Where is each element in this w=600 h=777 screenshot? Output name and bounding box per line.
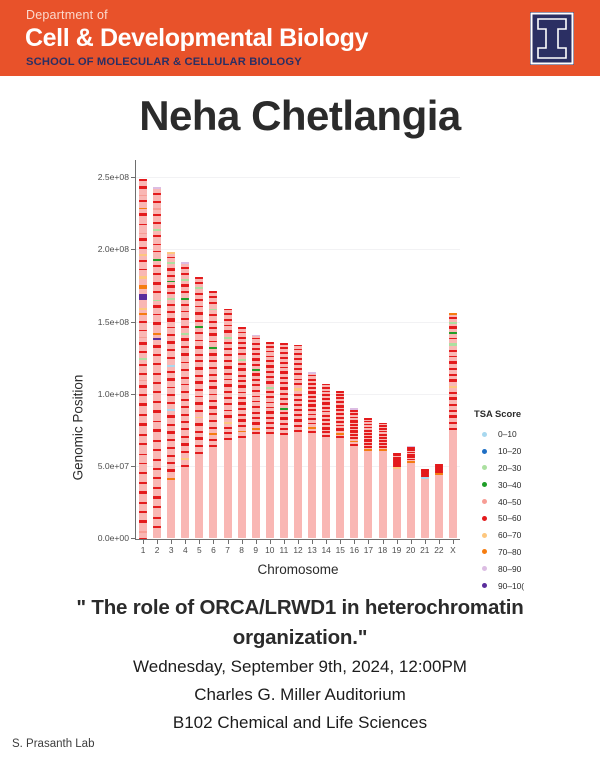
chromosome-segment [153,363,161,366]
chromosome-segment [252,406,260,409]
chromosome-column [266,342,274,538]
chromosome-segment [280,357,288,359]
legend-color-dot-icon [482,449,487,454]
chromosome-segment [294,363,302,365]
chromosome-segment [209,360,217,362]
chromosome-segment [336,428,344,431]
chromosome-segment [238,353,246,356]
chromosome-segment [308,431,316,433]
chromosome-segment [195,326,203,328]
chromosome-segment [139,233,147,234]
chromosome-segment [336,436,344,438]
chromosome-segment [280,347,288,349]
chromosome-segment [364,433,372,435]
chromosome-segment [379,434,387,437]
chromosome-segment [238,380,246,382]
chromosome-segment [153,300,161,301]
chromosome-segment [209,333,217,336]
chromosome-segment [449,326,457,329]
chromosome-segment [364,427,372,429]
chromosome-segment [266,396,274,399]
chromosome-segment [252,343,260,345]
chromosome-segment [449,317,457,319]
chromosome-segment [139,285,147,290]
chromosome-segment [153,265,161,268]
chromosome-segment [252,373,260,376]
chromosome-segment [449,392,457,394]
chromosome-segment [266,432,274,434]
chromosome-segment [195,312,203,315]
event-venue: Charles G. Miller Auditorium [0,681,600,709]
chromosome-column [322,384,330,538]
chromosome-segment [209,367,217,370]
chromosome-segment [238,392,246,394]
chromosome-segment [238,347,246,349]
chromosome-segment [294,349,302,351]
chromosome-segment [407,449,415,451]
chromosome-segment [167,431,175,434]
chromosome-segment [153,468,161,470]
chromosome-segment [209,309,217,311]
chromosome-segment [153,487,161,489]
chromosome-segment [153,291,161,293]
chromosome-segment [181,443,189,446]
chromosome-segment [322,431,330,433]
chart-x-tick-mark [368,540,369,544]
chart-x-tick-label: 14 [322,545,331,555]
chromosome-segment [224,384,232,387]
chromosome-segment [139,238,147,241]
chromosome-column [238,327,246,538]
chromosome-segment [238,414,246,416]
chromosome-segment [181,406,189,409]
chromosome-segment [167,469,175,472]
chromosome-segment [139,330,147,332]
chart-x-tick-label: 12 [293,545,302,555]
chromosome-segment [139,511,147,513]
chromosome-segment [238,359,246,361]
chromosome-segment [167,304,175,307]
chromosome-segment [209,406,217,409]
chromosome-segment [252,335,260,337]
chromosome-segment [393,467,401,469]
chromosome-segment [139,195,147,196]
chromosome-segment [195,431,203,433]
chromosome-segment [379,440,387,442]
chromosome-segment [139,454,147,456]
chromosome-segment [308,396,316,398]
chart-x-tick-label: 13 [307,545,316,555]
chromosome-segment [181,458,189,460]
chromosome-segment [252,353,260,355]
chromosome-segment [139,531,147,533]
chromosome-segment [294,388,302,391]
chromosome-segment [209,296,217,298]
chromosome-segment [139,443,147,446]
chromosome-segment [252,401,260,403]
legend-item-label: 0–10 [498,429,517,439]
chromosome-segment [350,430,358,433]
chromosome-segment [153,401,161,403]
chromosome-segment [252,379,260,381]
chromosome-segment [449,332,457,334]
chromosome-segment [294,414,302,416]
chromosome-segment [294,399,302,401]
chart-x-tick-mark [213,540,214,544]
chromosome-segment [280,412,288,414]
chromosome-segment [139,213,147,216]
chromosome-segment [252,428,260,430]
chromosome-segment [195,445,203,447]
chromosome-segment [209,347,217,349]
chromosome-segment [209,394,217,396]
chromosome-segment [209,420,217,423]
chart-x-tick-label: 17 [364,545,373,555]
chromosome-segment [407,461,415,463]
chromosome-segment [224,432,232,434]
chart-y-tick-label: 1.5e+08 [98,317,129,327]
chromosome-segment [181,262,189,264]
chromosome-segment [308,372,316,374]
chart-x-tick-mark [298,540,299,544]
chromosome-segment [435,473,443,475]
legend-item[interactable]: 50–60 [474,510,600,527]
chromosome-segment [209,427,217,429]
chromosome-segment [153,506,161,508]
chromosome-segment [224,410,232,412]
chromosome-segment [153,421,161,423]
chromosome-segment [266,351,274,353]
chromosome-segment [139,423,147,426]
chart-gridline [136,177,460,178]
chromosome-segment [167,285,175,288]
chromosome-segment [449,386,457,388]
chromosome-segment [238,419,246,422]
chromosome-segment [195,320,203,322]
chromosome-segment [209,341,217,343]
chromosome-segment [364,449,372,451]
chromosome-segment [379,428,387,430]
chromosome-segment [153,208,161,209]
chromosome-segment [224,373,232,375]
chart-x-tick-label: X [450,545,456,555]
chromosome-segment [139,403,147,406]
chromosome-segment [449,415,457,418]
chromosome-segment [181,436,189,438]
chromosome-segment [167,394,175,397]
chromosome-segment [139,463,147,465]
chromosome-column [364,418,372,538]
chromosome-segment [238,425,246,427]
chromosome-segment [224,348,232,351]
chromosome-segment [181,279,189,281]
legend-item[interactable]: 70–80 [474,544,600,561]
chart-legend: TSA Score 0–1010–2020–3030–4040–5050–606… [474,408,600,594]
chromosome-segment [266,417,274,419]
legend-item[interactable]: 0–10 [474,426,600,443]
chart-x-tick-label: 1 [141,545,146,555]
chromosome-segment [167,334,175,336]
chromosome-segment [181,311,189,313]
talk-title-line-2: organization." [233,626,367,649]
chromosome-segment [238,342,246,344]
chart-x-tick-label: 7 [225,545,230,555]
chromosome-segment [449,368,457,370]
chromosome-segment [238,385,246,388]
chromosome-segment [195,396,203,398]
chromosome-segment [195,293,203,296]
chromosome-segment [181,465,189,467]
chromosome-segment [139,491,147,494]
chromosome-segment [181,362,189,364]
chromosome-segment [308,414,316,416]
legend-item[interactable]: 20–30 [474,460,600,477]
chromosome-segment [322,402,330,405]
chromosome-segment [139,373,147,375]
chromosome-segment [364,430,372,433]
chromosome-segment [449,313,457,315]
legend-item-label: 70–80 [498,547,521,557]
chart-y-axis-ticks: 0.0e+005.0e+071.0e+081.5e+082.0e+082.5e+… [0,150,129,550]
chromosome-segment [252,364,260,366]
chromosome-segment [167,281,175,282]
chromosome-segment [379,446,387,448]
chart-y-tick-label: 1.0e+08 [98,389,129,399]
chromosome-segment [181,267,189,270]
chart-x-tick-mark [326,540,327,544]
chromosome-segment [308,379,316,381]
chromosome-segment [322,411,330,413]
chromosome-segment [322,384,330,386]
chromosome-segment [280,382,288,384]
chromosome-segment [322,419,330,421]
chromosome-segment [449,397,457,400]
chart-x-tick-mark [354,540,355,544]
chart-gridline [136,249,460,250]
chart-x-tick-label: 18 [378,545,387,555]
chromosome-segment [153,338,161,340]
chromosome-segment [153,429,161,432]
chromosome-segment [139,179,147,181]
chart-x-tick-mark [383,540,384,544]
chromosome-segment [336,421,344,423]
chromosome-segment [153,345,161,348]
chromosome-segment [364,418,372,420]
chromosome-segment [209,353,217,356]
chromosome-segment [139,313,147,315]
chromosome-segment [224,422,232,424]
chromosome-segment [449,322,457,324]
legend-color-dot-icon [482,465,487,470]
chromosome-segment [294,394,302,396]
chromosome-segment [252,358,260,361]
chromosome-segment [209,314,217,317]
chromosome-segment [238,436,246,438]
chromosome-segment [280,387,288,390]
chromosome-segment [294,425,302,427]
chromosome-segment [167,478,175,480]
chromosome-segment [153,333,161,335]
chromosome-segment [139,200,147,202]
chromosome-segment [252,417,260,419]
chromosome-segment [167,357,175,360]
chromosome-segment [139,247,147,249]
chromosome-segment [280,377,288,379]
chromosome-segment [167,252,175,254]
chromosome-segment [139,254,147,255]
chromosome-segment [153,496,161,499]
chromosome-column [209,291,217,538]
legend-color-dot-icon [482,499,487,504]
chromosome-segment [266,371,274,373]
chromosome-segment [449,428,457,430]
chromosome-segment [308,387,316,389]
chromosome-segment [195,332,203,335]
legend-color-dot-icon [482,549,487,554]
chart-y-tick-label: 2.5e+08 [98,172,129,182]
legend-item-label: 90–10( [498,581,524,591]
chromosome-segment [280,433,288,435]
chromosome-segment [407,456,415,458]
chromosome-segment [195,282,203,284]
chromosome-column [167,252,175,538]
chromosome-segment [195,306,203,308]
chromosome-segment [379,431,387,433]
chromosome-column [181,262,189,538]
chromosome-segment [181,284,189,287]
legend-item-label: 20–30 [498,463,521,473]
chromosome-segment [153,477,161,480]
chart-x-tick-mark [397,540,398,544]
chromosome-segment [181,451,189,453]
chromosome-segment [181,384,189,386]
chromosome-segment [224,366,232,369]
chromosome-segment [224,309,232,311]
legend-item[interactable]: 80–90 [474,560,600,577]
chromosome-segment [153,449,161,452]
event-building: B102 Chemical and Life Sciences [0,709,600,737]
chromosome-segment [153,354,161,356]
chromosome-segment [167,341,175,344]
chromosome-segment [181,399,189,401]
chromosome-segment [209,327,217,329]
chromosome-segment [294,345,302,347]
chromosome-segment [322,427,330,430]
chromosome-segment [280,367,288,369]
chart-x-tick-mark [242,540,243,544]
chromosome-segment [153,251,161,253]
chromosome-column [350,408,358,538]
talk-title-line-1: " The role of ORCA/LRWD1 in heterochroma… [76,596,523,619]
chromosome-segment [379,437,387,439]
chromosome-segment [252,348,260,350]
chromosome-segment [449,338,457,340]
chromosome-segment [449,350,457,352]
chromosome-segment [181,298,189,300]
chromosome-segment [195,410,203,412]
chromosome-segment [280,393,288,395]
chromosome-segment [336,433,344,435]
chromosome-segment [350,420,358,423]
chromosome-segment [280,423,288,425]
chromosome-segment [336,409,344,411]
legend-item[interactable]: 40–50 [474,493,600,510]
chart-x-tick-mark [143,540,144,544]
chromosome-segment [153,440,161,442]
chromosome-segment [153,187,161,189]
chromosome-segment [139,269,147,271]
chromosome-segment [336,394,344,396]
legend-item-label: 40–50 [498,497,521,507]
chromosome-segment [266,427,274,429]
chromosome-segment [139,520,147,523]
chromosome-segment [153,373,161,375]
chromosome-segment [379,425,387,427]
chromosome-segment [449,356,457,358]
chromosome-segment [181,291,189,293]
chromosome-segment [181,338,189,341]
chromosome-segment [294,358,302,360]
legend-item[interactable]: 30–40 [474,476,600,493]
chromosome-segment [167,462,175,464]
chromosome-segment [280,408,288,410]
chromosome-segment [421,477,429,479]
chart-x-tick-label: 3 [169,545,174,555]
chromosome-column [421,469,429,538]
chart-x-tick-label: 8 [239,545,244,555]
chromosome-segment [139,351,147,353]
legend-item[interactable]: 90–10( [474,577,600,594]
chromosome-segment [224,397,232,399]
legend-item[interactable]: 60–70 [474,527,600,544]
chromosome-segment [252,396,260,398]
chromosome-segment [336,413,344,415]
chromosome-segment [350,437,358,439]
legend-item[interactable]: 10–20 [474,443,600,460]
chromosome-segment [153,314,161,316]
chromosome-segment [153,201,161,203]
chart-y-tick-label: 2.0e+08 [98,244,129,254]
legend-color-dot-icon [482,566,487,571]
legend-item-label: 30–40 [498,480,521,490]
page-header: Department of Cell & Developmental Biolo… [0,0,600,76]
chart-y-tick-label: 5.0e+07 [98,461,129,471]
chromosome-segment [449,422,457,424]
chromosome-segment [379,449,387,451]
chromosome-column [449,313,457,538]
chromosome-segment [266,376,274,378]
chromosome-segment [167,387,175,389]
chromosome-column [393,453,401,538]
chromosome-segment [449,361,457,364]
chromosome-segment [167,327,175,329]
chromosome-segment [195,452,203,454]
chromosome-segment [238,408,246,410]
chromosome-segment [280,343,288,345]
chromosome-segment [139,337,147,338]
chart-x-tick-mark [312,540,313,544]
chromosome-segment [280,371,288,374]
chromosome-column [407,446,415,538]
chromosome-segment [266,356,274,358]
legend-item-label: 10–20 [498,446,521,456]
chromosome-segment [238,375,246,377]
chromosome-segment [153,282,161,285]
chromosome-segment [336,391,344,393]
chromosome-segment [238,327,246,329]
talk-title: " The role of ORCA/LRWD1 in heterochroma… [8,593,592,653]
chromosome-segment [195,381,203,384]
